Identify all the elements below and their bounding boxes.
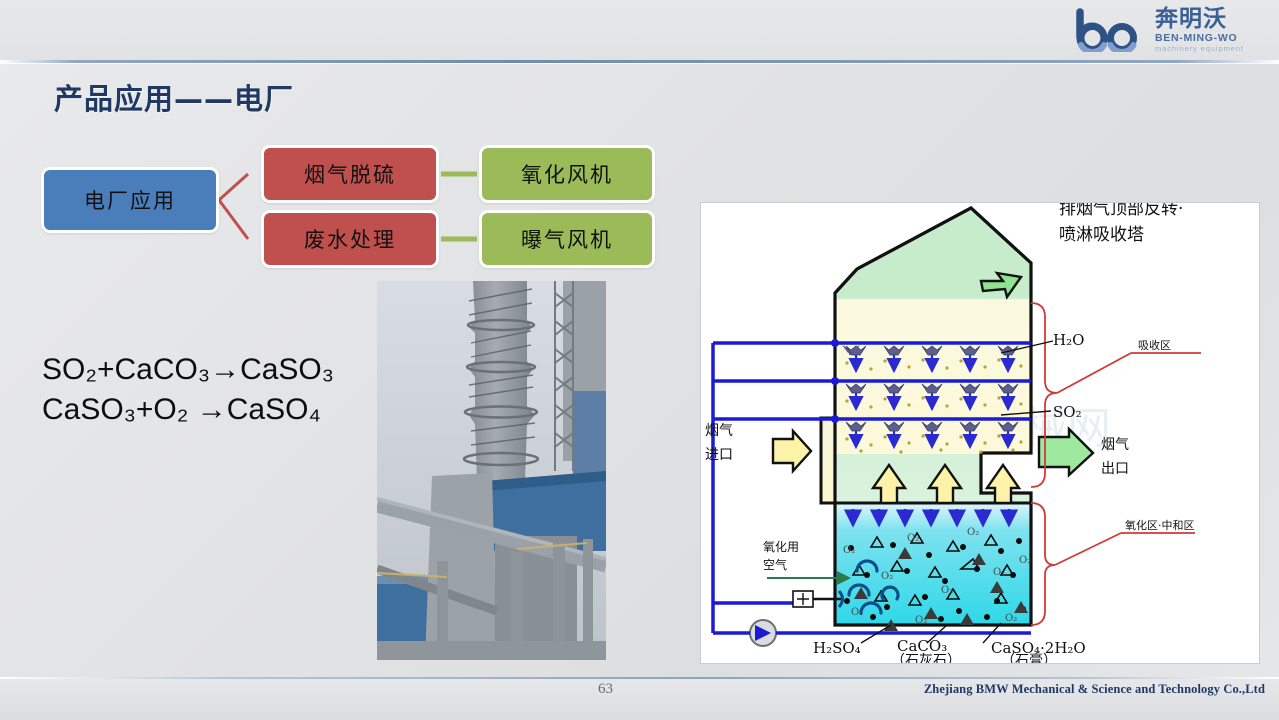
- label-h2so4: H₂SO₄: [813, 639, 861, 657]
- page-number: 63: [598, 681, 613, 698]
- svg-text:O₂: O₂: [881, 571, 893, 582]
- chemical-equations: SO₂+CaCO₃→CaSO₃ CaSO₃+O₂ →CaSO₄: [42, 350, 334, 429]
- label-so2: SO₂: [1053, 403, 1082, 421]
- equation-line-2: CaSO₃+O₂ →CaSO₄: [42, 390, 334, 430]
- logo-tagline: machinery equipment: [1155, 45, 1244, 53]
- flow-node-oxidation-fan[interactable]: 氧化风机: [479, 145, 655, 203]
- equation-line-1: SO₂+CaCO₃→CaSO₃: [42, 350, 334, 390]
- company-logo: 奔明沃 BEN-MING-WO machinery equipment: [1075, 4, 1265, 56]
- label-inlet-2: 进口: [705, 447, 733, 463]
- footer-company-name: Zhejiang BMW Mechanical & Science and Te…: [924, 682, 1265, 697]
- label-limestone: （石灰石）: [891, 653, 961, 664]
- diagram-heading-line1: 排烟气顶部反转·: [1059, 203, 1183, 219]
- svg-text:O₂: O₂: [907, 533, 919, 544]
- flow-chart: 电厂应用 烟气脱硫 废水处理 氧化风机 曝气风机: [0, 0, 700, 280]
- flow-node-root[interactable]: 电厂应用: [41, 167, 219, 233]
- label-outlet-1: 烟气: [1101, 437, 1129, 453]
- label-ox-air-2: 空气: [763, 557, 787, 572]
- label-inlet-1: 烟气: [705, 423, 733, 439]
- label-h2o: H₂O: [1053, 331, 1084, 349]
- label-oxidation-zone: 氧化区·中和区: [1125, 518, 1195, 532]
- label-ox-air-1: 氧化用: [763, 540, 799, 554]
- flow-node-aeration-fan[interactable]: 曝气风机: [479, 210, 655, 268]
- svg-text:O₂: O₂: [993, 567, 1005, 578]
- bo-monogram-icon: [1075, 8, 1149, 52]
- label-gypsum: （石膏）: [1001, 652, 1057, 664]
- diagram-heading-line2: 喷淋吸收塔: [1059, 225, 1144, 245]
- plant-photo: [377, 281, 606, 660]
- svg-text:O₂: O₂: [941, 585, 953, 596]
- logo-chinese-name: 奔明沃: [1155, 8, 1244, 31]
- svg-text:O₂: O₂: [967, 527, 979, 538]
- fgd-process-diagram: 输送机械网: [700, 202, 1260, 664]
- plant-photo-illustration: [377, 281, 606, 660]
- svg-text:O₂: O₂: [915, 615, 927, 626]
- fgd-diagram-svg: 输送机械网: [701, 203, 1260, 664]
- svg-text:O₂: O₂: [1019, 555, 1031, 566]
- svg-text:O₂: O₂: [843, 545, 855, 556]
- svg-text:O₂: O₂: [1005, 613, 1017, 624]
- flow-node-fgd[interactable]: 烟气脱硫: [261, 145, 439, 203]
- label-outlet-2: 出口: [1101, 461, 1129, 477]
- logo-english-name: BEN-MING-WO: [1155, 33, 1244, 44]
- label-absorption-zone: 吸收区: [1138, 338, 1171, 352]
- flow-node-wastewater[interactable]: 废水处理: [261, 210, 439, 268]
